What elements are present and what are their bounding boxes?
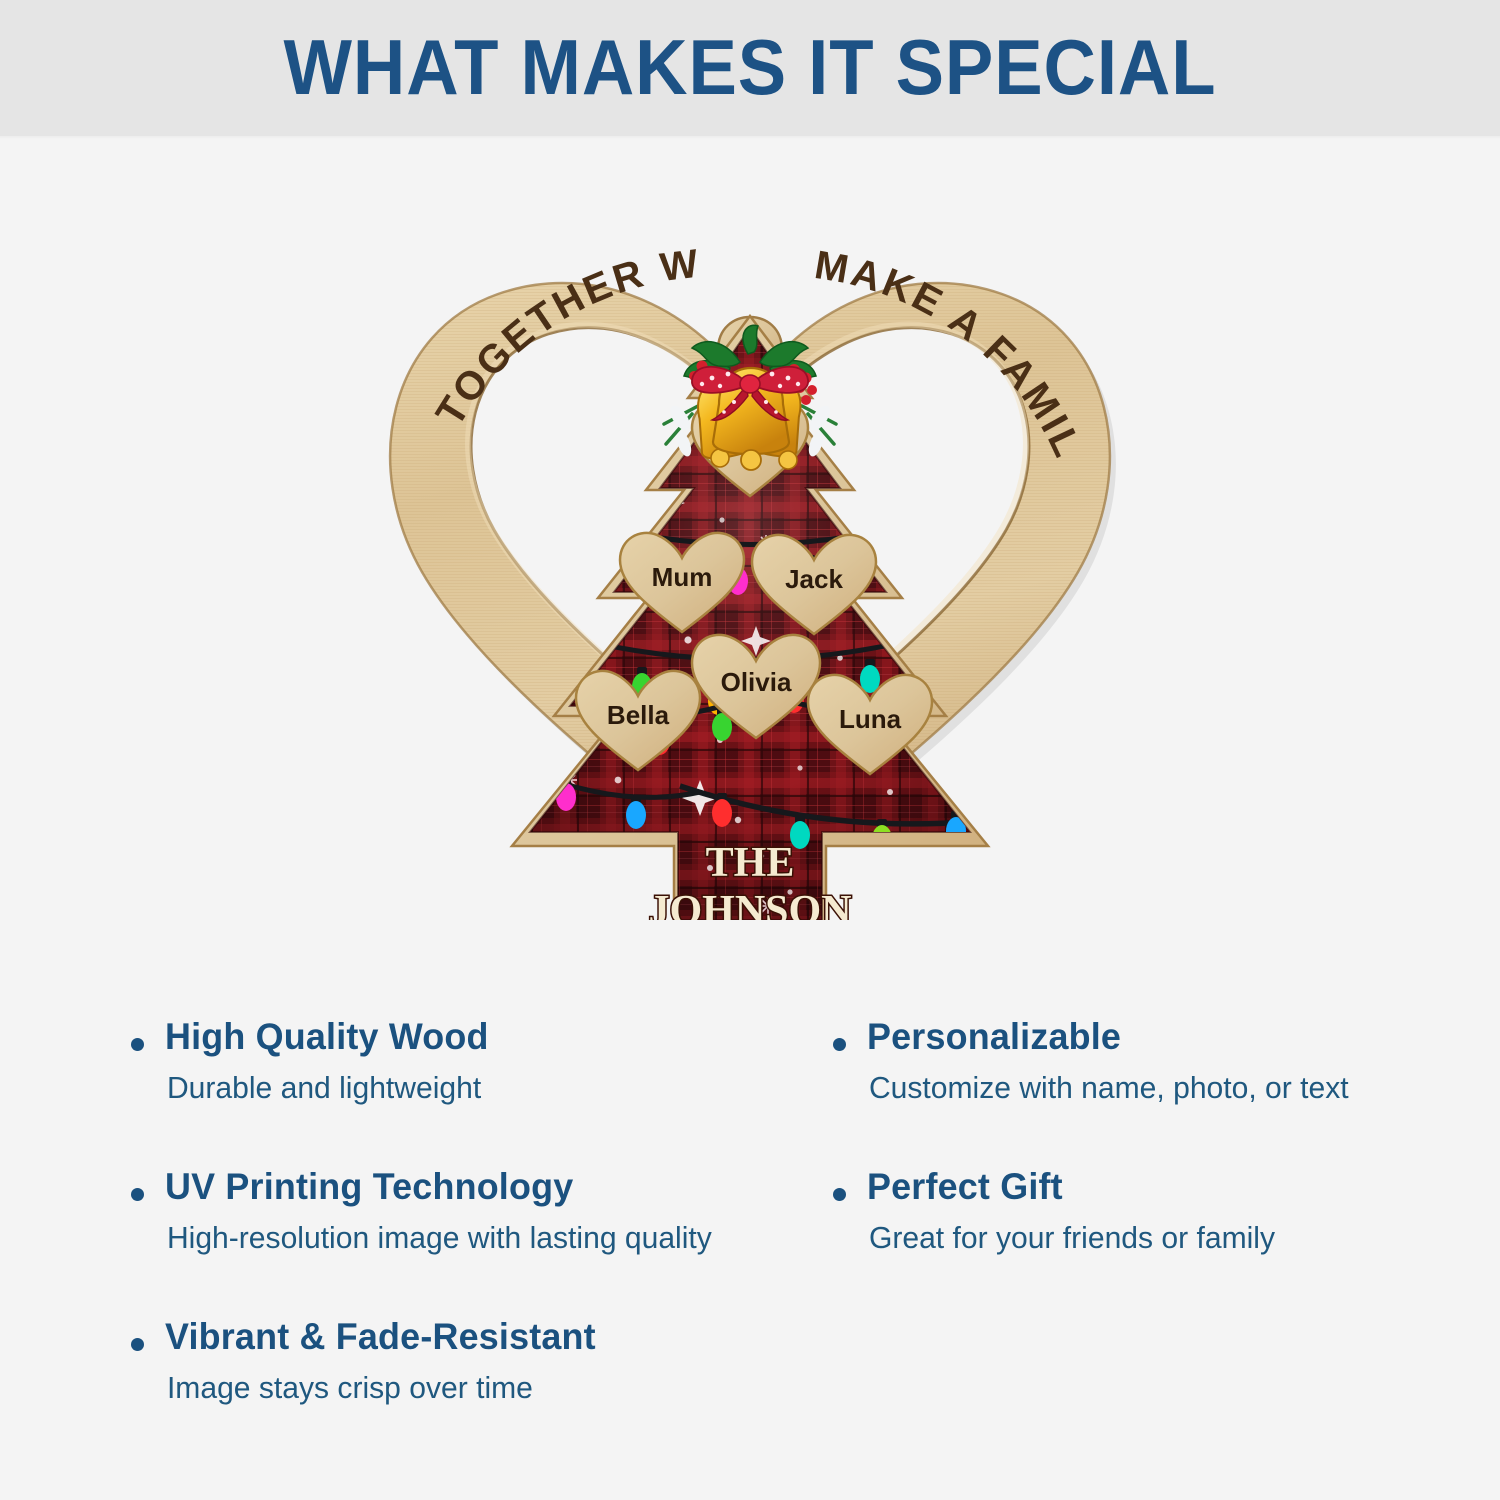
heart-label: Jack: [785, 564, 843, 594]
heart-label: Luna: [839, 704, 902, 734]
ornament-illustration: TOGETHER WE MAKE A FAMILY: [370, 220, 1130, 920]
header-divider: [0, 136, 1500, 139]
feature-item: UV Printing Technology High-resolution i…: [120, 1165, 820, 1258]
feature-description: Customize with name, photo, or text: [867, 1068, 1425, 1108]
bullet-dot-icon: [833, 1188, 846, 1201]
feature-title: Vibrant & Fade-Resistant: [165, 1315, 800, 1359]
feature-description: High-resolution image with lasting quali…: [165, 1218, 800, 1258]
family-name-line-1: THE: [706, 840, 795, 886]
feature-item: Perfect Gift Great for your friends or f…: [822, 1165, 1442, 1258]
feature-item: Vibrant & Fade-Resistant Image stays cri…: [120, 1315, 820, 1408]
feature-title: UV Printing Technology: [165, 1165, 800, 1209]
feature-description: Durable and lightweight: [165, 1068, 800, 1108]
feature-column-right: Personalizable Customize with name, phot…: [822, 1015, 1442, 1315]
feature-description: Great for your friends or family: [867, 1218, 1425, 1258]
page-title: WHAT MAKES IT SPECIAL: [53, 26, 1448, 108]
bullet-dot-icon: [833, 1038, 846, 1051]
heart-label: Bella: [607, 700, 670, 730]
feature-list: High Quality Wood Durable and lightweigh…: [0, 1015, 1500, 1435]
feature-column-left: High Quality Wood Durable and lightweigh…: [120, 1015, 820, 1465]
family-name-line-2: JOHNSON: [648, 888, 851, 920]
feature-title: Personalizable: [867, 1015, 1425, 1059]
bullet-dot-icon: [131, 1188, 144, 1201]
feature-title: Perfect Gift: [867, 1165, 1425, 1209]
heart-label: Olivia: [721, 667, 792, 697]
feature-title: High Quality Wood: [165, 1015, 800, 1059]
bullet-dot-icon: [131, 1038, 144, 1051]
product-image-stage: TOGETHER WE MAKE A FAMILY: [0, 150, 1500, 990]
heart-label: Mum: [652, 562, 713, 592]
bullet-dot-icon: [131, 1338, 144, 1351]
feature-description: Image stays crisp over time: [165, 1368, 800, 1408]
feature-item: Personalizable Customize with name, phot…: [822, 1015, 1442, 1108]
feature-item: High Quality Wood Durable and lightweigh…: [120, 1015, 820, 1108]
